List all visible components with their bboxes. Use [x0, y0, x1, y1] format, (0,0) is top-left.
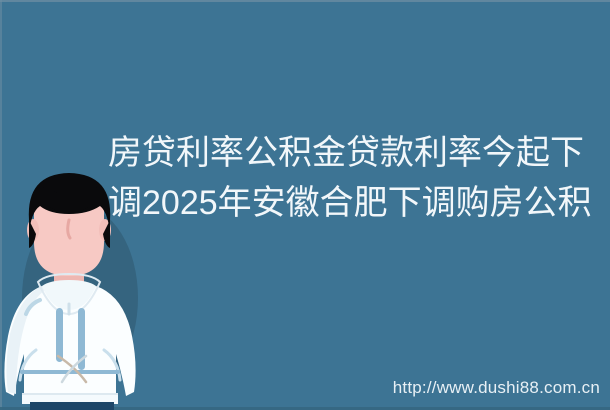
poster-canvas: 房贷利率公积金贷款利率今起下调2025年安徽合肥下调购房公积 http://ww… — [0, 0, 610, 410]
watermark-url: http://www.dushi88.com.cn — [393, 378, 600, 398]
page-title: 房贷利率公积金贷款利率今起下调2025年安徽合肥下调购房公积 — [108, 128, 604, 228]
canvas-top-edge — [0, 0, 610, 2]
pants — [30, 402, 114, 410]
